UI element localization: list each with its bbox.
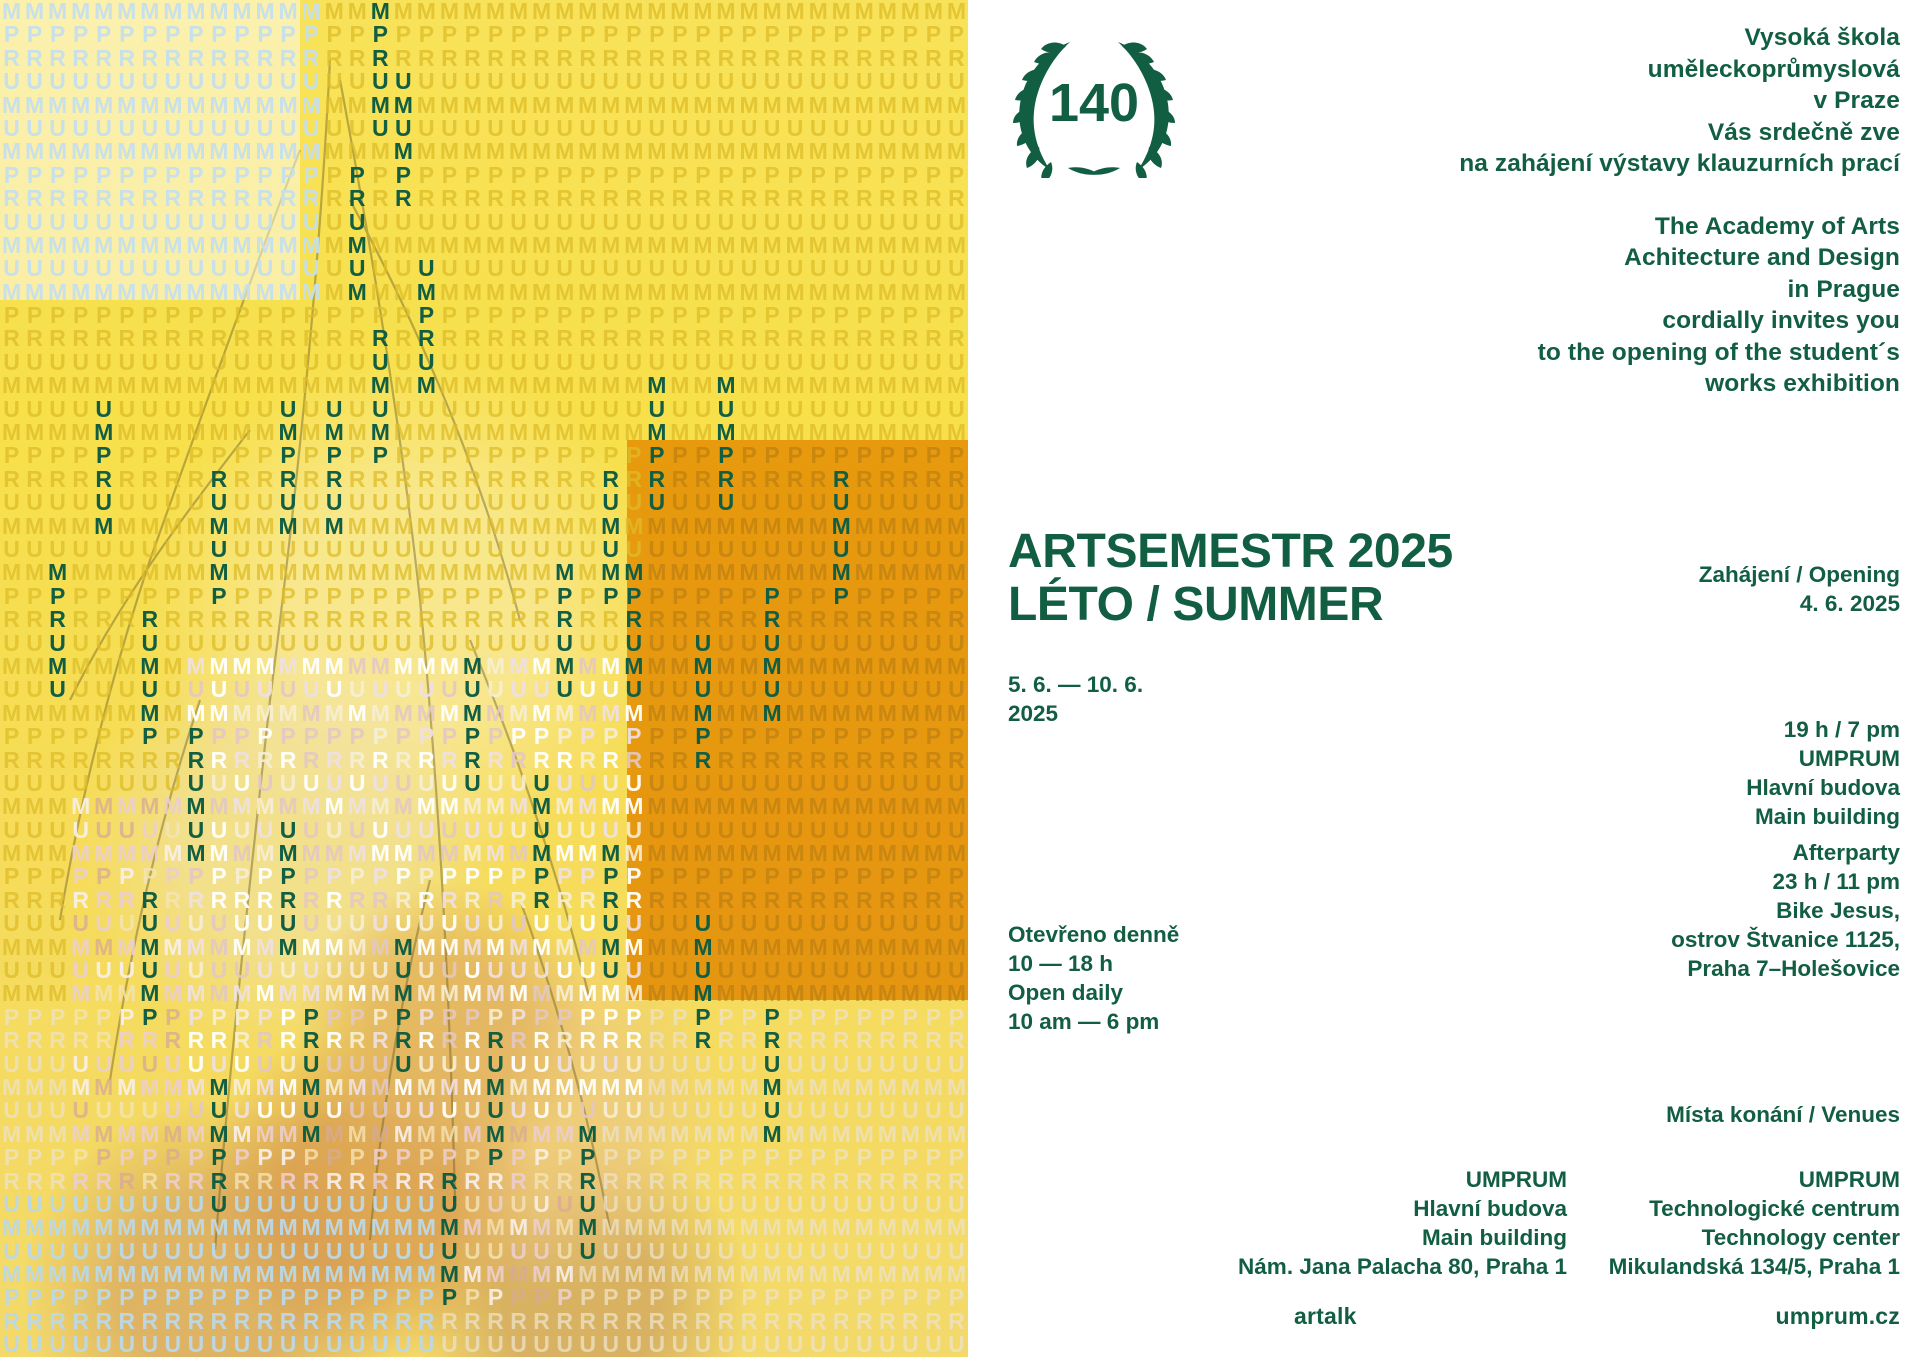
pattern-letter: U <box>945 959 968 982</box>
pattern-letter: M <box>599 140 622 163</box>
pattern-letter: U <box>115 117 138 140</box>
pattern-letter: P <box>853 304 876 327</box>
pattern-letter: U <box>207 1240 230 1263</box>
pattern-letter: R <box>576 187 599 210</box>
pattern-letter: P <box>0 304 23 327</box>
pattern-letter: U <box>645 491 668 514</box>
pattern-letter: U <box>830 211 853 234</box>
pattern-letter: M <box>0 421 23 444</box>
pattern-letter: M <box>622 982 645 1005</box>
pattern-letter: U <box>184 772 207 795</box>
pattern-letter: U <box>784 1240 807 1263</box>
pattern-letter: M <box>415 655 438 678</box>
pattern-letter: M <box>69 1216 92 1239</box>
pattern-letter: U <box>0 538 23 561</box>
pattern-letter: U <box>738 257 761 280</box>
pattern-letter: M <box>461 374 484 397</box>
pattern-letter: P <box>576 1286 599 1309</box>
pattern-letter: U <box>69 538 92 561</box>
pattern-letter: P <box>945 304 968 327</box>
pattern-letter: M <box>484 234 507 257</box>
pattern-letter: U <box>184 398 207 421</box>
pattern-letter: R <box>530 1170 553 1193</box>
pattern-letter: U <box>230 211 253 234</box>
pattern-letter: U <box>461 1193 484 1216</box>
pattern-letter: M <box>530 655 553 678</box>
pattern-letter: M <box>945 281 968 304</box>
pattern-letter: R <box>761 327 784 350</box>
pattern-letter: M <box>300 94 323 117</box>
pattern-letter: P <box>461 164 484 187</box>
pattern-letter: M <box>46 94 69 117</box>
pattern-letter: P <box>668 444 691 467</box>
pattern-letter: R <box>622 749 645 772</box>
pattern-letter: U <box>945 70 968 93</box>
pattern-letter: M <box>645 702 668 725</box>
pattern-letter: R <box>0 187 23 210</box>
pattern-letter: U <box>115 632 138 655</box>
pattern-letter: R <box>599 608 622 631</box>
pattern-letter: P <box>438 1286 461 1309</box>
pattern-letter: R <box>0 889 23 912</box>
pattern-letter: U <box>830 1099 853 1122</box>
pattern-letter: M <box>392 982 415 1005</box>
pattern-letter: P <box>69 23 92 46</box>
pattern-letter: P <box>738 164 761 187</box>
pattern-letter: U <box>922 398 945 421</box>
pattern-letter: M <box>484 374 507 397</box>
pattern-letter: U <box>899 211 922 234</box>
pattern-letter: P <box>69 304 92 327</box>
pattern-letter: P <box>576 164 599 187</box>
pattern-letter: M <box>714 0 737 23</box>
pattern-letter: R <box>553 608 576 631</box>
pattern-letter: M <box>945 842 968 865</box>
dates-year: 2025 <box>1008 699 1308 728</box>
pattern-letter: U <box>645 678 668 701</box>
pattern-letter: P <box>761 1006 784 1029</box>
pattern-letter: R <box>599 749 622 772</box>
pattern-letter: P <box>876 304 899 327</box>
pattern-letter: P <box>300 865 323 888</box>
pattern-letter: R <box>300 608 323 631</box>
pattern-letter: U <box>484 1193 507 1216</box>
pattern-letter: M <box>46 140 69 163</box>
pattern-letter: P <box>69 444 92 467</box>
pattern-letter: M <box>392 515 415 538</box>
pattern-letter: P <box>622 725 645 748</box>
pattern-letter: U <box>945 1099 968 1122</box>
pattern-letter: U <box>323 912 346 935</box>
pattern-letter: U <box>277 70 300 93</box>
pattern-letter: M <box>645 515 668 538</box>
pattern-letter: R <box>530 327 553 350</box>
pattern-letter: M <box>738 421 761 444</box>
pattern-letter: U <box>714 959 737 982</box>
pattern-letter: U <box>830 117 853 140</box>
pattern-letter: M <box>277 982 300 1005</box>
pattern-letter: M <box>645 936 668 959</box>
pattern-letter: U <box>369 912 392 935</box>
pattern-letter: P <box>184 444 207 467</box>
pattern-letter: U <box>207 1053 230 1076</box>
pattern-letter: M <box>69 1263 92 1286</box>
pattern-letter: U <box>69 257 92 280</box>
pattern-letter: U <box>830 959 853 982</box>
pattern-letter: P <box>392 304 415 327</box>
pattern-letter: U <box>161 1099 184 1122</box>
pattern-letter: R <box>323 1310 346 1333</box>
pattern-letter: P <box>161 1146 184 1169</box>
pattern-letter: R <box>69 1029 92 1052</box>
pattern-letter: M <box>645 0 668 23</box>
pattern-letter: U <box>784 398 807 421</box>
pattern-letter: U <box>576 912 599 935</box>
pattern-letter: U <box>530 491 553 514</box>
pattern-letter: M <box>945 1263 968 1286</box>
pattern-letter: U <box>207 117 230 140</box>
pattern-letter: U <box>138 1053 161 1076</box>
pattern-letter: P <box>738 444 761 467</box>
pattern-letter: M <box>69 655 92 678</box>
pattern-letter: M <box>576 234 599 257</box>
pattern-letter: P <box>876 23 899 46</box>
pattern-letter: M <box>853 421 876 444</box>
pattern-letter: U <box>553 70 576 93</box>
pattern-letter: M <box>922 374 945 397</box>
pattern-letter: R <box>599 327 622 350</box>
pattern-letter: U <box>369 398 392 421</box>
pattern-letter: M <box>922 140 945 163</box>
pattern-letter: M <box>0 655 23 678</box>
pattern-letter: U <box>853 257 876 280</box>
pattern-letter: M <box>807 94 830 117</box>
pattern-letter: P <box>899 725 922 748</box>
pattern-letter: M <box>69 0 92 23</box>
pattern-letter: P <box>230 865 253 888</box>
pattern-letter: M <box>668 936 691 959</box>
pattern-letter: U <box>668 819 691 842</box>
pattern-letter: P <box>576 585 599 608</box>
pattern-letter: M <box>115 374 138 397</box>
pattern-letter: M <box>277 561 300 584</box>
artalk-logo[interactable]: artalk <box>1294 1303 1357 1330</box>
pattern-letter: M <box>254 281 277 304</box>
pattern-letter: M <box>899 655 922 678</box>
pattern-letter: P <box>277 585 300 608</box>
pattern-letter: M <box>392 281 415 304</box>
pattern-letter: R <box>323 187 346 210</box>
pattern-letter: U <box>553 211 576 234</box>
pattern-letter: M <box>668 1123 691 1146</box>
pattern-letter: M <box>161 140 184 163</box>
pattern-letter: R <box>507 187 530 210</box>
pattern-letter: R <box>576 889 599 912</box>
pattern-letter: R <box>830 1170 853 1193</box>
pattern-letter: U <box>23 1240 46 1263</box>
pattern-letter: P <box>899 865 922 888</box>
pattern-letter: M <box>46 842 69 865</box>
pattern-letter: U <box>438 959 461 982</box>
pattern-letter: M <box>714 515 737 538</box>
pattern-letter: R <box>369 1029 392 1052</box>
pattern-letter: P <box>161 304 184 327</box>
pattern-letter: M <box>415 0 438 23</box>
pattern-letter: U <box>530 1193 553 1216</box>
pattern-letter: U <box>668 959 691 982</box>
pattern-letter: M <box>323 421 346 444</box>
pattern-letter: R <box>46 1170 69 1193</box>
pattern-letter: M <box>507 94 530 117</box>
pattern-letter: M <box>484 655 507 678</box>
pattern-letter: R <box>23 1310 46 1333</box>
pattern-letter: M <box>530 842 553 865</box>
pattern-letter: R <box>553 1170 576 1193</box>
pattern-letter: P <box>138 1006 161 1029</box>
pattern-letter: U <box>277 678 300 701</box>
pattern-letter: R <box>599 47 622 70</box>
pattern-letter: U <box>576 351 599 374</box>
pattern-letter: R <box>392 1170 415 1193</box>
pattern-letter: P <box>138 164 161 187</box>
pattern-letter: R <box>0 47 23 70</box>
pattern-letter: M <box>230 655 253 678</box>
pattern-letter: P <box>622 865 645 888</box>
pattern-letter: M <box>438 1263 461 1286</box>
pattern-letter: M <box>599 234 622 257</box>
pattern-letter: R <box>92 1310 115 1333</box>
pattern-letter: U <box>599 351 622 374</box>
pattern-letter: R <box>23 1029 46 1052</box>
hours-time-cs: 10 — 18 h <box>1008 949 1368 978</box>
pattern-letter: P <box>300 23 323 46</box>
pattern-letter: U <box>645 959 668 982</box>
pattern-letter: P <box>46 1286 69 1309</box>
pattern-letter: M <box>369 94 392 117</box>
pattern-letter: U <box>161 398 184 421</box>
pattern-letter: M <box>138 140 161 163</box>
pattern-letter: M <box>645 1076 668 1099</box>
pattern-letter: U <box>392 632 415 655</box>
pattern-letter: R <box>438 187 461 210</box>
pattern-letter: P <box>392 23 415 46</box>
pattern-letter: U <box>668 1193 691 1216</box>
pattern-letter: U <box>92 819 115 842</box>
pattern-letter: R <box>876 749 899 772</box>
pattern-letter: M <box>438 1216 461 1239</box>
pattern-letter: P <box>622 585 645 608</box>
pattern-letter: U <box>691 1193 714 1216</box>
pattern-letter: U <box>507 1099 530 1122</box>
pattern-letter: M <box>714 281 737 304</box>
pattern-letter: M <box>576 842 599 865</box>
pattern-letter: M <box>69 140 92 163</box>
pattern-letter: U <box>115 1240 138 1263</box>
pattern-letter: U <box>392 772 415 795</box>
pattern-letter: R <box>668 749 691 772</box>
pattern-letter: P <box>899 304 922 327</box>
pattern-letter: P <box>576 725 599 748</box>
pattern-letter: U <box>138 678 161 701</box>
pattern-letter: U <box>576 1333 599 1356</box>
pattern-letter: M <box>761 702 784 725</box>
pattern-letter: M <box>415 421 438 444</box>
pattern-letter: P <box>876 1006 899 1029</box>
pattern-letter: U <box>576 1099 599 1122</box>
pattern-letter: U <box>207 959 230 982</box>
pattern-letter: M <box>599 94 622 117</box>
pattern-letter: P <box>92 1006 115 1029</box>
pattern-letter: M <box>115 561 138 584</box>
pattern-letter: R <box>254 608 277 631</box>
pattern-letter: R <box>346 608 369 631</box>
pattern-letter: M <box>576 0 599 23</box>
pattern-letter: U <box>277 772 300 795</box>
pattern-letter: M <box>668 842 691 865</box>
pattern-letter: R <box>714 608 737 631</box>
pattern-letter: U <box>830 772 853 795</box>
pattern-letter: M <box>69 234 92 257</box>
pattern-letter: M <box>415 936 438 959</box>
pattern-letter: U <box>300 678 323 701</box>
pattern-letter: M <box>484 702 507 725</box>
pattern-letter: R <box>230 47 253 70</box>
pattern-letter: U <box>530 678 553 701</box>
pattern-letter: U <box>254 772 277 795</box>
pattern-letter: U <box>438 632 461 655</box>
pattern-letter: U <box>23 538 46 561</box>
pattern-letter: P <box>46 304 69 327</box>
pattern-letter: M <box>461 936 484 959</box>
pattern-letter: P <box>23 865 46 888</box>
pattern-letter: M <box>346 515 369 538</box>
pattern-letter: M <box>945 140 968 163</box>
pattern-letter: R <box>484 608 507 631</box>
pattern-letter: M <box>346 1263 369 1286</box>
pattern-letter: U <box>899 819 922 842</box>
pattern-letter: U <box>668 632 691 655</box>
pattern-letter: M <box>46 0 69 23</box>
pattern-letter: U <box>438 1099 461 1122</box>
pattern-letter: P <box>184 585 207 608</box>
pattern-letter: U <box>576 1053 599 1076</box>
pattern-letter: M <box>46 655 69 678</box>
pattern-letter: M <box>922 94 945 117</box>
pattern-letter: M <box>576 374 599 397</box>
pattern-letter: R <box>645 468 668 491</box>
pattern-letter: M <box>922 515 945 538</box>
pattern-letter: R <box>438 468 461 491</box>
pattern-letter: M <box>69 94 92 117</box>
pattern-letter: M <box>484 795 507 818</box>
pattern-letter: U <box>392 678 415 701</box>
pattern-letter: R <box>507 1029 530 1052</box>
pattern-letter: U <box>645 772 668 795</box>
pattern-letter: U <box>254 398 277 421</box>
pattern-letter: P <box>230 1286 253 1309</box>
pattern-letter: U <box>691 678 714 701</box>
pattern-letter: M <box>668 0 691 23</box>
pattern-letter: R <box>415 187 438 210</box>
pattern-letter: U <box>922 1240 945 1263</box>
pattern-letter: M <box>184 281 207 304</box>
pattern-letter: R <box>691 1029 714 1052</box>
pattern-letter: M <box>461 140 484 163</box>
pattern-letter: U <box>415 632 438 655</box>
pattern-letter: U <box>161 1240 184 1263</box>
pattern-letter: U <box>622 1099 645 1122</box>
pattern-letter: U <box>115 772 138 795</box>
pattern-letter: R <box>230 889 253 912</box>
pattern-letter: M <box>369 1216 392 1239</box>
pattern-letter: U <box>576 632 599 655</box>
pattern-letter: M <box>507 1123 530 1146</box>
pattern-letter: U <box>807 632 830 655</box>
pattern-letter: U <box>0 1240 23 1263</box>
pattern-letter: U <box>184 257 207 280</box>
pattern-letter: U <box>46 819 69 842</box>
pattern-letter: M <box>138 561 161 584</box>
pattern-letter: U <box>184 211 207 234</box>
pattern-letter: M <box>599 655 622 678</box>
pattern-letter: R <box>738 47 761 70</box>
pattern-letter: U <box>876 351 899 374</box>
pattern-letter: M <box>300 702 323 725</box>
pattern-letter: P <box>691 1286 714 1309</box>
pattern-letter: M <box>46 1216 69 1239</box>
pattern-letter: R <box>668 327 691 350</box>
pattern-letter: P <box>0 1146 23 1169</box>
pattern-letter: U <box>138 1193 161 1216</box>
pattern-letter: M <box>899 1123 922 1146</box>
pattern-letter: R <box>853 1170 876 1193</box>
pattern-letter: P <box>899 1006 922 1029</box>
pattern-letter: M <box>945 1123 968 1146</box>
pattern-letter: R <box>553 327 576 350</box>
pattern-letter: M <box>69 795 92 818</box>
pattern-letter: U <box>830 70 853 93</box>
pattern-letter: U <box>830 678 853 701</box>
pattern-letter: M <box>507 1076 530 1099</box>
pattern-letter: M <box>622 374 645 397</box>
umprum-website-link[interactable]: umprum.cz <box>1776 1303 1900 1330</box>
pattern-letter: U <box>530 912 553 935</box>
pattern-letter: M <box>507 702 530 725</box>
pattern-letter: P <box>323 1286 346 1309</box>
pattern-letter: U <box>0 912 23 935</box>
pattern-letter: R <box>161 1310 184 1333</box>
pattern-letter: R <box>945 889 968 912</box>
pattern-letter: M <box>230 936 253 959</box>
pattern-letter: U <box>784 959 807 982</box>
pattern-letter: M <box>92 842 115 865</box>
pattern-letter: M <box>207 0 230 23</box>
pattern-letter: M <box>530 421 553 444</box>
pattern-letter: M <box>115 1216 138 1239</box>
pattern-letter: U <box>0 70 23 93</box>
venue-left-line-2: Main building <box>1107 1223 1567 1252</box>
pattern-letter: M <box>323 561 346 584</box>
pattern-letter: M <box>876 655 899 678</box>
pattern-letter: U <box>0 1193 23 1216</box>
pattern-letter: M <box>369 515 392 538</box>
pattern-letter: P <box>69 164 92 187</box>
pattern-letter: R <box>438 608 461 631</box>
pattern-letter: U <box>945 1053 968 1076</box>
pattern-letter: M <box>807 140 830 163</box>
pattern-letter: R <box>415 1029 438 1052</box>
pattern-letter: M <box>69 982 92 1005</box>
